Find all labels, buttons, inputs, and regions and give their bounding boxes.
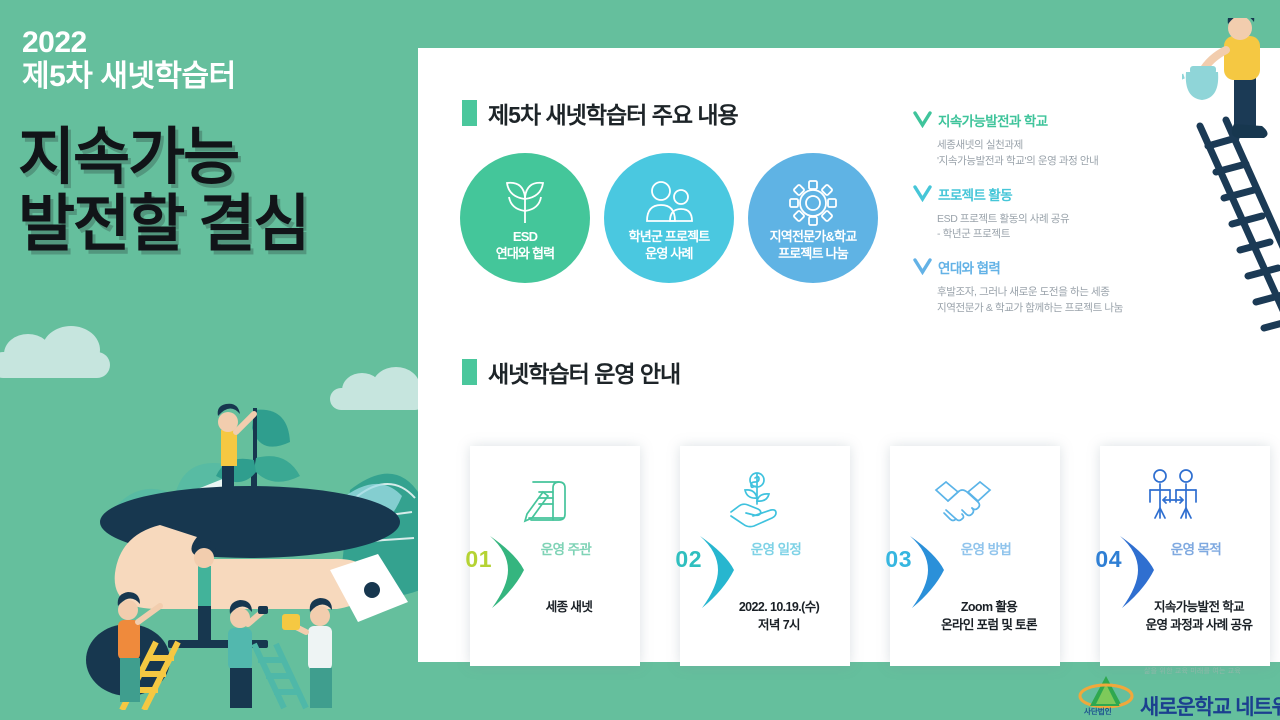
scroll-pen-icon bbox=[438, 468, 648, 533]
process-step-02[interactable]: 02 운영 일정 2022. 10.19.(수) 저녁 7시 bbox=[648, 446, 858, 666]
step-label: 운영 주관 bbox=[484, 538, 648, 558]
heading-marker bbox=[462, 100, 477, 126]
bullet-description: 세종새넷의 실천과제 '지속가능발전과 학교'의 운영 과정 안내 bbox=[937, 138, 1213, 170]
bullet-title: 연대와 협력 bbox=[938, 257, 1000, 277]
poster-year-title: 2022 제5차 새넷학습터 bbox=[22, 26, 236, 93]
content-card: 제5차 새넷학습터 주요 내용 ESD 연대와 협력 bbox=[418, 48, 1280, 662]
handshake-icon bbox=[858, 468, 1068, 529]
logo-tagline: 삶을 위한 교육 미래를 여는 교육 bbox=[1144, 666, 1241, 676]
concept-circle-esd[interactable]: ESD 연대와 협력 bbox=[460, 153, 590, 283]
bullet-item[interactable]: 프로젝트 활동 ESD 프로젝트 활동의 사례 공유 - 학년군 프로젝트 bbox=[913, 184, 1213, 244]
chevron-down-icon bbox=[913, 185, 932, 207]
bullet-item[interactable]: 연대와 협력 후발조자, 그러나 새로운 도전을 하는 세종 지역전문가 & 학… bbox=[913, 257, 1213, 317]
hand-plant-icon bbox=[648, 468, 858, 533]
people-icon bbox=[643, 179, 695, 228]
step-value: Zoom 활용 온라인 포럼 및 토론 bbox=[904, 598, 1074, 634]
step-value: 세종 새넷 bbox=[484, 598, 654, 616]
process-step-03[interactable]: 03 운영 방법 Zoom 활용 온라인 포럼 및 토론 bbox=[858, 446, 1068, 666]
gear-icon bbox=[788, 179, 838, 232]
step-value: 지속가능발전 학교 운영 과정과 사례 공유 bbox=[1114, 598, 1280, 634]
bullet-title: 지속가능발전과 학교 bbox=[938, 110, 1048, 130]
bullet-title: 프로젝트 활동 bbox=[938, 184, 1012, 204]
process-step-04[interactable]: 04 운영 목적 지속가능발전 학교 운영 과정과 사례 공유 bbox=[1068, 446, 1278, 666]
bullet-item[interactable]: 지속가능발전과 학교 세종새넷의 실천과제 '지속가능발전과 학교'의 운영 과… bbox=[913, 110, 1213, 170]
circle-label-line1: 학년군 프로젝트 bbox=[629, 228, 710, 246]
hand-plant-illustration bbox=[0, 370, 420, 710]
process-steps: 01 운영 주관 세종 새넷 02 bbox=[438, 446, 1280, 666]
concept-circle-expert[interactable]: 지역전문가&학교 프로젝트 나눔 bbox=[748, 153, 878, 283]
chevron-down-icon bbox=[913, 258, 932, 280]
heading-marker bbox=[462, 359, 477, 385]
logo-name: 새로운학교 네트워크 bbox=[1140, 691, 1280, 720]
poster-main-title: 지속가능 발전할 결심 bbox=[18, 125, 418, 259]
circle-label-line2: 프로젝트 나눔 bbox=[778, 245, 848, 263]
poster-left-panel: 2022 제5차 새넷학습터 지속가능 발전할 결심 bbox=[0, 0, 420, 720]
step-value: 2022. 10.19.(수) 저녁 7시 bbox=[694, 598, 864, 634]
concept-circle-group: ESD 연대와 협력 학년군 프로젝트 운영 사례 bbox=[460, 153, 878, 283]
main-content-heading-text: 제5차 새넷학습터 주요 내용 bbox=[488, 96, 738, 130]
steps-heading-text: 새넷학습터 운영 안내 bbox=[488, 355, 680, 389]
logo-emblem-icon: 사단법인 bbox=[1078, 672, 1134, 720]
organization-logo[interactable]: 사단법인 새로운학교 네트워크 삶을 위한 교육 미래를 여는 교육 bbox=[1078, 672, 1280, 720]
leaf-icon bbox=[501, 179, 549, 232]
bullet-list: 지속가능발전과 학교 세종새넷의 실천과제 '지속가능발전과 학교'의 운영 과… bbox=[913, 110, 1213, 331]
steps-heading: 새넷학습터 운영 안내 bbox=[462, 355, 680, 389]
main-content-heading: 제5차 새넷학습터 주요 내용 bbox=[462, 96, 738, 130]
two-people-icon bbox=[1068, 468, 1278, 529]
logo-corp-label: 사단법인 bbox=[1084, 706, 1112, 717]
step-label: 운영 일정 bbox=[694, 538, 858, 558]
concept-circle-project[interactable]: 학년군 프로젝트 운영 사례 bbox=[604, 153, 734, 283]
bullet-description: 후발조자, 그러나 새로운 도전을 하는 세종 지역전문가 & 학교가 함께하는… bbox=[937, 285, 1213, 317]
circle-label-line2: 연대와 협력 bbox=[496, 245, 555, 263]
bullet-description: ESD 프로젝트 활동의 사례 공유 - 학년군 프로젝트 bbox=[937, 212, 1213, 244]
circle-label-line2: 운영 사례 bbox=[645, 245, 692, 263]
chevron-down-icon bbox=[913, 111, 932, 133]
step-label: 운영 방법 bbox=[904, 538, 1068, 558]
step-label: 운영 목적 bbox=[1114, 538, 1278, 558]
process-step-01[interactable]: 01 운영 주관 세종 새넷 bbox=[438, 446, 648, 666]
